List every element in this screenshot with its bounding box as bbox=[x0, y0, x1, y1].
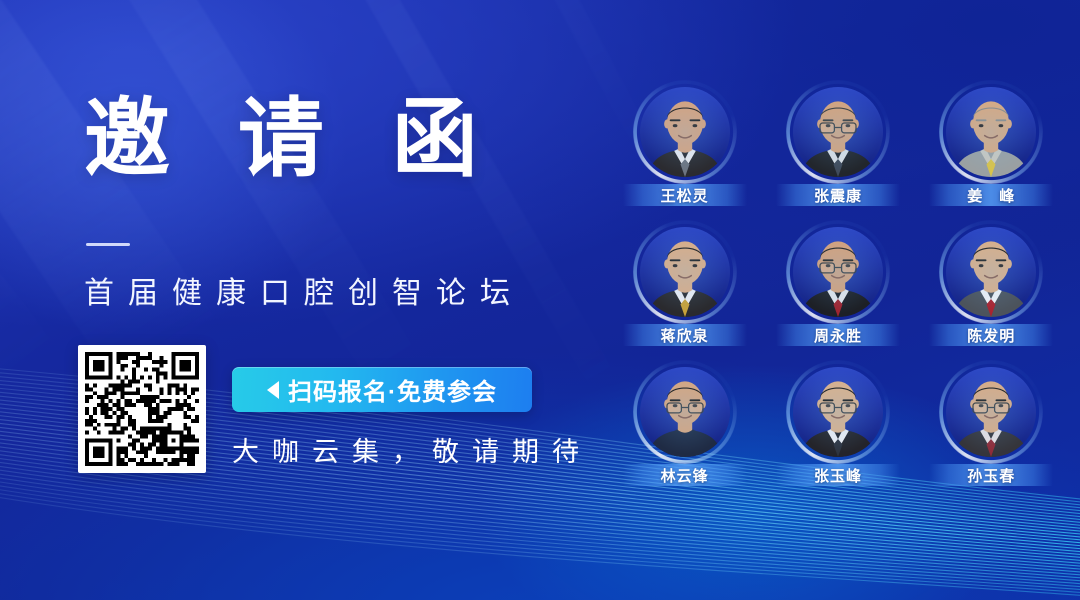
speaker-name: 姜 峰 bbox=[967, 185, 1015, 206]
avatar bbox=[946, 87, 1036, 177]
avatar bbox=[640, 87, 730, 177]
invitation-poster: 邀 请 函 首届健康口腔创智论坛 扫码报名·免费参会 大咖云集，敬请期待 bbox=[0, 0, 1080, 600]
left-content: 邀 请 函 首届健康口腔创智论坛 扫码报名·免费参会 大咖云集，敬请期待 bbox=[0, 0, 600, 600]
avatar-ring bbox=[790, 364, 886, 460]
speaker-nameplate: 孙玉春 bbox=[929, 464, 1053, 486]
speaker-nameplate: 张震康 bbox=[776, 184, 900, 206]
avatar bbox=[640, 367, 730, 457]
avatar bbox=[793, 227, 883, 317]
avatar bbox=[946, 227, 1036, 317]
avatar-ring bbox=[637, 364, 733, 460]
speaker-nameplate: 王松灵 bbox=[623, 184, 747, 206]
avatar bbox=[793, 367, 883, 457]
speaker-card[interactable]: 张玉峰 bbox=[761, 362, 914, 502]
avatar bbox=[793, 87, 883, 177]
speaker-nameplate: 蒋欣泉 bbox=[623, 324, 747, 346]
speaker-name: 孙玉春 bbox=[967, 465, 1015, 486]
page-title: 邀 请 函 bbox=[84, 96, 500, 182]
page-subtitle: 首届健康口腔创智论坛 bbox=[84, 268, 524, 312]
speaker-name: 张震康 bbox=[814, 185, 862, 206]
avatar-ring bbox=[790, 84, 886, 180]
left-arrow-icon bbox=[267, 381, 279, 399]
scan-register-label: 扫码报名·免费参会 bbox=[288, 372, 497, 407]
speaker-nameplate: 林云锋 bbox=[623, 464, 747, 486]
avatar bbox=[946, 367, 1036, 457]
avatar-ring bbox=[637, 224, 733, 320]
speaker-card[interactable]: 林云锋 bbox=[608, 362, 761, 502]
scan-register-button[interactable]: 扫码报名·免费参会 bbox=[232, 367, 532, 412]
speaker-nameplate: 周永胜 bbox=[776, 324, 900, 346]
avatar-ring bbox=[943, 84, 1039, 180]
speaker-card[interactable]: 张震康 bbox=[761, 82, 914, 222]
speaker-card[interactable]: 姜 峰 bbox=[915, 82, 1068, 222]
title-divider bbox=[86, 243, 130, 246]
speaker-card[interactable]: 孙玉春 bbox=[915, 362, 1068, 502]
speaker-card[interactable]: 陈发明 bbox=[915, 222, 1068, 362]
speaker-nameplate: 姜 峰 bbox=[929, 184, 1053, 206]
avatar-ring bbox=[790, 224, 886, 320]
avatar-ring bbox=[943, 224, 1039, 320]
speaker-card[interactable]: 蒋欣泉 bbox=[608, 222, 761, 362]
tagline: 大咖云集，敬请期待 bbox=[232, 430, 592, 469]
speaker-name: 张玉峰 bbox=[814, 465, 862, 486]
avatar-ring bbox=[637, 84, 733, 180]
qr-code[interactable] bbox=[78, 345, 206, 473]
speaker-name: 王松灵 bbox=[661, 185, 709, 206]
speaker-card[interactable]: 王松灵 bbox=[608, 82, 761, 222]
speaker-name: 周永胜 bbox=[814, 325, 862, 346]
speaker-nameplate: 张玉峰 bbox=[776, 464, 900, 486]
speaker-name: 陈发明 bbox=[967, 325, 1015, 346]
speaker-grid: 王松灵 bbox=[608, 82, 1068, 502]
avatar-ring bbox=[943, 364, 1039, 460]
avatar bbox=[640, 227, 730, 317]
speaker-nameplate: 陈发明 bbox=[929, 324, 1053, 346]
speaker-name: 蒋欣泉 bbox=[661, 325, 709, 346]
speaker-name: 林云锋 bbox=[661, 465, 709, 486]
speaker-card[interactable]: 周永胜 bbox=[761, 222, 914, 362]
